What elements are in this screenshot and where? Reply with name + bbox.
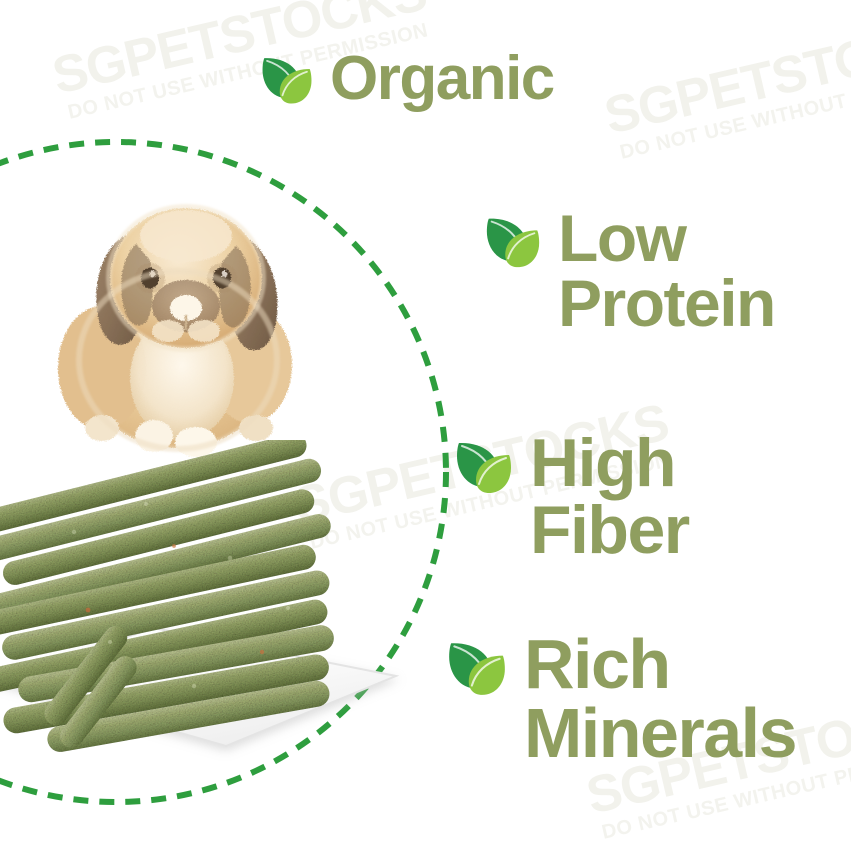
- feature-label-rich-minerals: Rich Minerals: [524, 628, 796, 769]
- product-feature-graphic: SGPETSTOCKS DO NOT USE WITHOUT PERMISSIO…: [0, 0, 851, 851]
- watermark-top-right: SGPETSTOCKS DO NOT USE WITHOUT PERMISSIO…: [600, 6, 851, 164]
- two-leaves-icon: [444, 634, 510, 700]
- two-leaves-icon: [258, 50, 316, 108]
- watermark-main-text: SGPETSTOCKS: [600, 6, 851, 142]
- product-photo-area: [0, 150, 430, 810]
- two-leaves-icon: [452, 434, 516, 498]
- feature-item-rich-minerals: Rich Minerals: [444, 628, 796, 769]
- hay-sticks-product-photo: [0, 440, 418, 790]
- feature-item-organic: Organic: [258, 46, 554, 109]
- feature-label-organic: Organic: [330, 46, 554, 109]
- two-leaves-icon: [482, 210, 544, 272]
- feature-item-low-protein: Low Protein: [482, 204, 775, 337]
- rabbit-photo: [36, 160, 336, 470]
- feature-item-high-fiber: High Fiber: [452, 428, 689, 565]
- feature-label-high-fiber: High Fiber: [530, 428, 689, 565]
- feature-label-low-protein: Low Protein: [558, 204, 775, 337]
- watermark-sub-text: DO NOT USE WITHOUT PERMISSION: [618, 59, 851, 163]
